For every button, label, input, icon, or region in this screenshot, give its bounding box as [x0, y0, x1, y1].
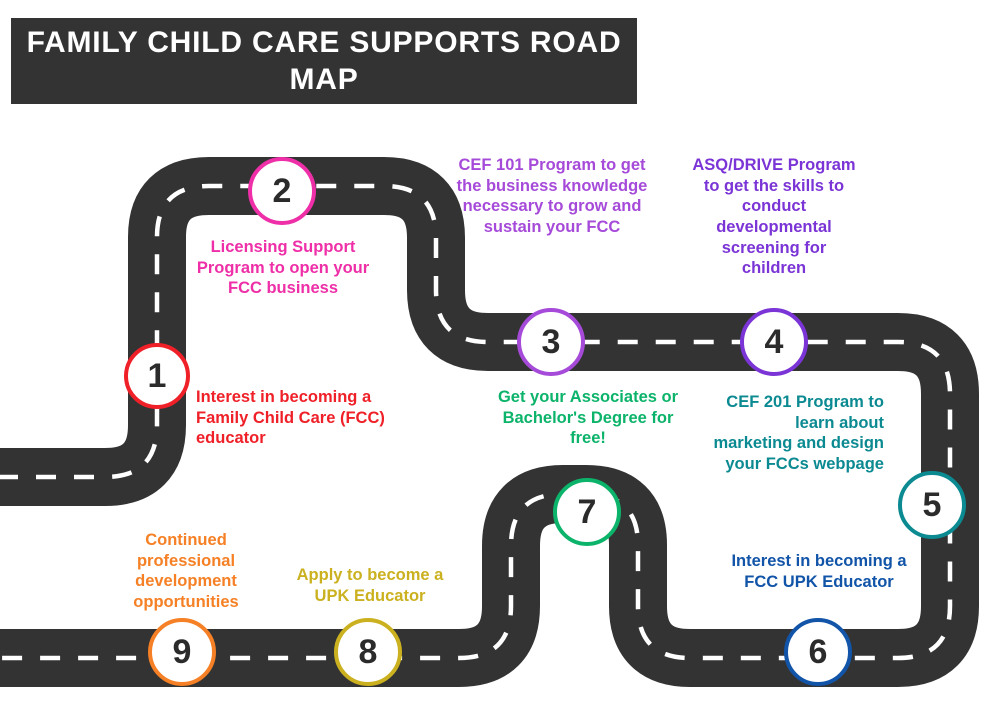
step-circle-8: 8 [334, 618, 402, 686]
step-number-9: 9 [173, 635, 192, 669]
step-label-2: Licensing Support Program to open your F… [188, 237, 378, 299]
step-circle-7: 7 [553, 478, 621, 546]
step-circle-1: 1 [124, 343, 190, 409]
step-label-9: Continued professional development oppor… [110, 530, 262, 613]
step-number-8: 8 [359, 635, 378, 669]
step-circle-3: 3 [517, 308, 585, 376]
step-number-2: 2 [273, 174, 292, 208]
step-label-1: Interest in becoming a Family Child Care… [196, 387, 406, 449]
step-number-3: 3 [542, 325, 561, 359]
step-circle-6: 6 [784, 618, 852, 686]
step-circle-5: 5 [898, 471, 966, 539]
step-label-4: ASQ/DRIVE Program to get the skills to c… [690, 155, 858, 279]
step-circle-4: 4 [740, 308, 808, 376]
step-circle-2: 2 [248, 157, 316, 225]
step-label-8: Apply to become a UPK Educator [278, 565, 462, 606]
step-label-6: Interest in becoming a FCC UPK Educator [722, 551, 916, 592]
step-label-3: CEF 101 Program to get the business know… [456, 155, 648, 238]
step-number-7: 7 [578, 495, 597, 529]
step-label-5: CEF 201 Program to learn about marketing… [712, 392, 884, 475]
roadmap-infographic: FAMILY CHILD CARE SUPPORTS ROAD MAP 1 2 … [0, 0, 1008, 721]
step-number-5: 5 [923, 488, 942, 522]
step-number-6: 6 [809, 635, 828, 669]
step-label-7: Get your Associates or Bachelor's Degree… [492, 387, 684, 449]
step-circle-9: 9 [148, 618, 216, 686]
step-number-4: 4 [765, 325, 784, 359]
step-number-1: 1 [148, 359, 167, 393]
